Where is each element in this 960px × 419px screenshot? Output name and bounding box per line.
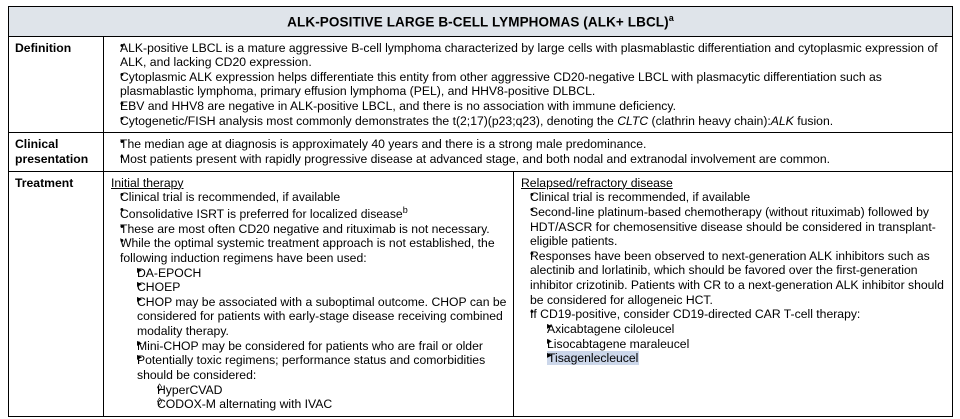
- treatment-relapsed-refractory-cell: Relapsed/refractory disease Clinical tri…: [514, 171, 953, 416]
- list-item: EBV and HHV8 are negative in ALK-positiv…: [111, 99, 947, 114]
- clinical-bullet-2: Most patients present with rapidly progr…: [120, 152, 947, 167]
- relapsed-bullet-1: Clinical trial is recommended, if availa…: [530, 190, 947, 205]
- list-item: Cytogenetic/FISH analysis most commonly …: [111, 114, 947, 129]
- regimen-hypercvad: HyperCVAD: [157, 383, 508, 398]
- car-t-therapy-list: Axicabtagene ciloleucel Lisocabtagene ma…: [537, 322, 947, 366]
- table-title-row: ALK-POSITIVE LARGE B-CELL LYMPHOMAS (ALK…: [9, 7, 953, 37]
- table-row: Treatment Initial therapy Clinical trial…: [9, 171, 953, 416]
- car-t-lisocabtagene: Lisocabtagene maraleucel: [547, 337, 947, 352]
- relapsed-refractory-heading: Relapsed/refractory disease: [519, 176, 947, 191]
- clinical-bullet-1: The median age at diagnosis is approxima…: [120, 137, 947, 152]
- list-item: Cytoplasmic ALK expression helps differe…: [111, 70, 947, 99]
- relapsed-bullet-list: Clinical trial is recommended, if availa…: [519, 190, 947, 366]
- initial-therapy-bullet-list: Clinical trial is recommended, if availa…: [109, 190, 508, 412]
- initial-bullet-2-footnote: b: [403, 205, 408, 215]
- initial-bullet-2: Consolidative ISRT is preferred for loca…: [120, 205, 508, 222]
- table-row: Clinical presentation The median age at …: [9, 133, 953, 171]
- definition-bullet-list: ALK-positive LBCL is a mature aggressive…: [109, 41, 947, 129]
- initial-bullet-2-text: Consolidative ISRT is preferred for loca…: [120, 207, 403, 221]
- regimen-mini-chop: Mini-CHOP may be considered for patients…: [137, 339, 508, 354]
- relapsed-bullet-2: Second-line platinum-based chemotherapy …: [530, 205, 947, 249]
- list-item: DA-EPOCH: [127, 266, 508, 281]
- row-label-treatment: Treatment: [9, 171, 104, 416]
- list-item: The median age at diagnosis is approxima…: [111, 137, 947, 152]
- list-item: Most patients present with rapidly progr…: [111, 152, 947, 167]
- initial-therapy-heading: Initial therapy: [109, 176, 508, 191]
- table-title-cell: ALK-POSITIVE LARGE B-CELL LYMPHOMAS (ALK…: [9, 7, 953, 37]
- relapsed-bullet-3: Responses have been observed to next-gen…: [530, 249, 947, 308]
- regimen-chop: CHOP may be associated with a suboptimal…: [137, 295, 508, 339]
- guideline-table: ALK-POSITIVE LARGE B-CELL LYMPHOMAS (ALK…: [8, 6, 953, 417]
- clinical-presentation-content: The median age at diagnosis is approxima…: [104, 133, 953, 171]
- car-t-tisagenlecleucel[interactable]: Tisagenlecleucel: [547, 351, 947, 366]
- definition-bullet-2: Cytoplasmic ALK expression helps differe…: [120, 70, 947, 99]
- list-item: Clinical trial is recommended, if availa…: [521, 190, 947, 205]
- regimen-toxic-note: Potentially toxic regimens; performance …: [137, 353, 508, 382]
- car-t-axicabtagene: Axicabtagene ciloleucel: [547, 322, 947, 337]
- initial-bullet-4: While the optimal systemic treatment app…: [120, 236, 508, 265]
- list-item: CODOX-M alternating with IVAC: [146, 397, 508, 412]
- regimen-codox-m-ivac: CODOX-M alternating with IVAC: [157, 397, 508, 412]
- regimen-da-epoch: DA-EPOCH: [137, 266, 508, 281]
- toxic-regimen-list: HyperCVAD CODOX-M alternating with IVAC: [146, 383, 508, 412]
- list-item: CHOP may be associated with a suboptimal…: [127, 295, 508, 339]
- list-item: Axicabtagene ciloleucel: [537, 322, 947, 337]
- definition-content: ALK-positive LBCL is a mature aggressive…: [104, 36, 953, 133]
- car-t-tisagenlecleucel-label: Tisagenlecleucel: [547, 351, 639, 365]
- document-page: ALK-POSITIVE LARGE B-CELL LYMPHOMAS (ALK…: [0, 0, 960, 419]
- list-item: Potentially toxic regimens; performance …: [127, 353, 508, 412]
- relapsed-bullet-4: If CD19-positive, consider CD19-directed…: [530, 307, 947, 322]
- list-item: Second-line platinum-based chemotherapy …: [521, 205, 947, 249]
- list-item: While the optimal systemic treatment app…: [111, 236, 508, 412]
- row-label-clinical-presentation: Clinical presentation: [9, 133, 104, 171]
- list-item: Responses have been observed to next-gen…: [521, 249, 947, 308]
- definition-bullet-1: ALK-positive LBCL is a mature aggressive…: [120, 41, 947, 70]
- definition-bullet-4: Cytogenetic/FISH analysis most commonly …: [120, 114, 947, 129]
- list-item: CHOEP: [127, 280, 508, 295]
- list-item[interactable]: Tisagenlecleucel: [537, 351, 947, 366]
- page-title: ALK-POSITIVE LARGE B-CELL LYMPHOMAS (ALK…: [287, 15, 669, 30]
- list-item: ALK-positive LBCL is a mature aggressive…: [111, 41, 947, 70]
- treatment-initial-therapy-cell: Initial therapy Clinical trial is recomm…: [104, 171, 514, 416]
- table-row: Definition ALK-positive LBCL is a mature…: [9, 36, 953, 133]
- definition-bullet-3: EBV and HHV8 are negative in ALK-positiv…: [120, 99, 947, 114]
- list-item: These are most often CD20 negative and r…: [111, 222, 508, 237]
- list-item: Consolidative ISRT is preferred for loca…: [111, 205, 508, 222]
- definition-bullet-4-text: Cytogenetic/FISH analysis most commonly …: [120, 114, 833, 128]
- list-item: If CD19-positive, consider CD19-directed…: [521, 307, 947, 366]
- list-item: HyperCVAD: [146, 383, 508, 398]
- row-label-definition: Definition: [9, 36, 104, 133]
- title-footnote-marker: a: [669, 13, 674, 23]
- induction-regimen-list: DA-EPOCH CHOEP CHOP may be associated wi…: [127, 266, 508, 412]
- clinical-presentation-bullet-list: The median age at diagnosis is approxima…: [109, 137, 947, 166]
- initial-bullet-1: Clinical trial is recommended, if availa…: [120, 190, 508, 205]
- list-item: Clinical trial is recommended, if availa…: [111, 190, 508, 205]
- initial-bullet-3: These are most often CD20 negative and r…: [120, 222, 508, 237]
- regimen-choep: CHOEP: [137, 280, 508, 295]
- list-item: Mini-CHOP may be considered for patients…: [127, 339, 508, 354]
- list-item: Lisocabtagene maraleucel: [537, 337, 947, 352]
